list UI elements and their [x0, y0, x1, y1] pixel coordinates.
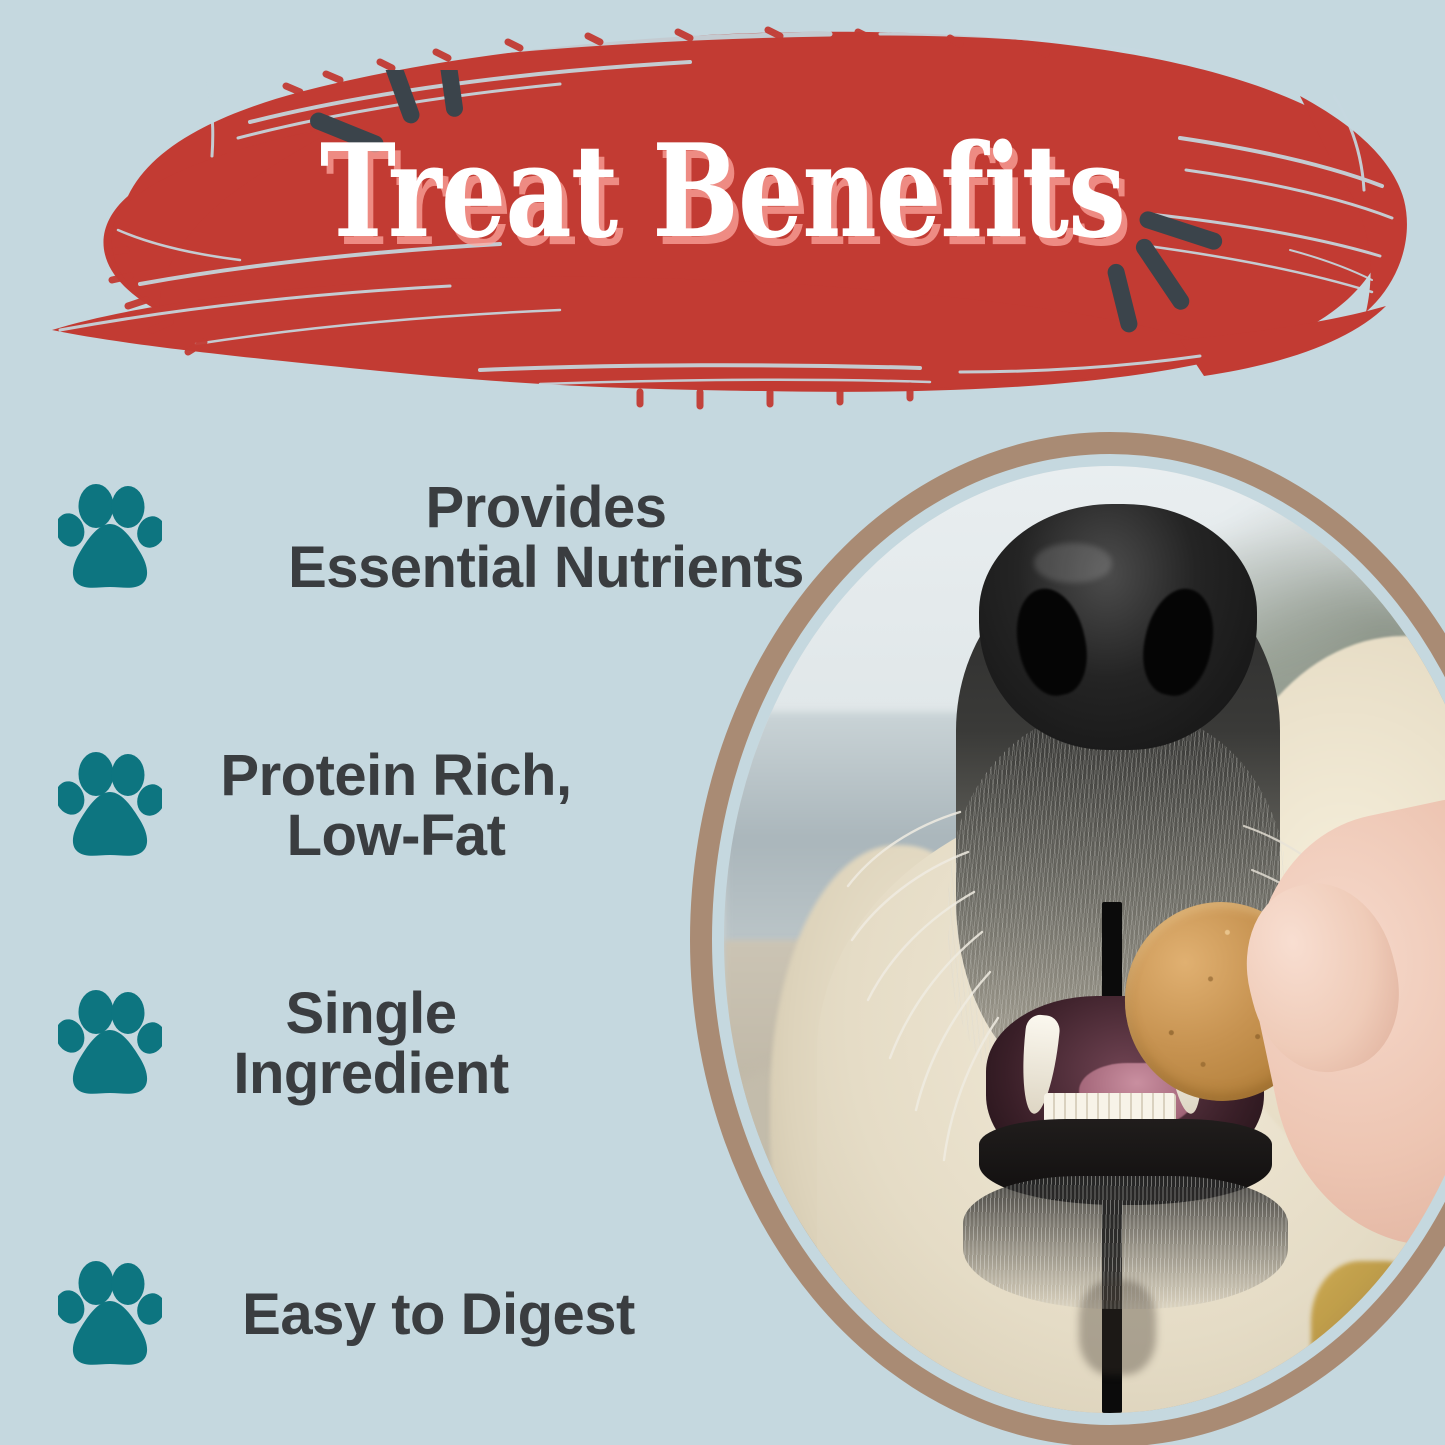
dog-chest-shadow: [1079, 1280, 1156, 1375]
accent-dash-icon: [437, 70, 464, 118]
paw-icon: [58, 483, 162, 593]
paw-icon: [58, 1260, 162, 1370]
paw-icon-glyph: [58, 751, 162, 861]
paw-icon: [58, 989, 162, 1099]
page-title: Treat Benefits: [145, 128, 1301, 256]
paw-icon-glyph: [58, 483, 162, 593]
photo-scene: [724, 466, 1445, 1413]
dog-nostril-right: [1135, 582, 1223, 702]
accent-dash-icon: [1106, 262, 1139, 334]
dog-nose-highlight: [1034, 543, 1112, 582]
dog-nostril-left: [1007, 582, 1095, 702]
paw-icon-glyph: [58, 989, 162, 1099]
paw-icon-glyph: [58, 1260, 162, 1370]
paw-icon: [58, 751, 162, 861]
dog-nose: [979, 504, 1257, 750]
dog-collar: [1311, 1261, 1435, 1413]
dog-eating-treat-photo: [724, 466, 1445, 1413]
header-banner: Treat Benefits: [0, 0, 1445, 420]
dog-photo-frame: [690, 432, 1445, 1445]
infographic-page: Treat Benefits Provides Essential Nutrie…: [0, 0, 1445, 1445]
